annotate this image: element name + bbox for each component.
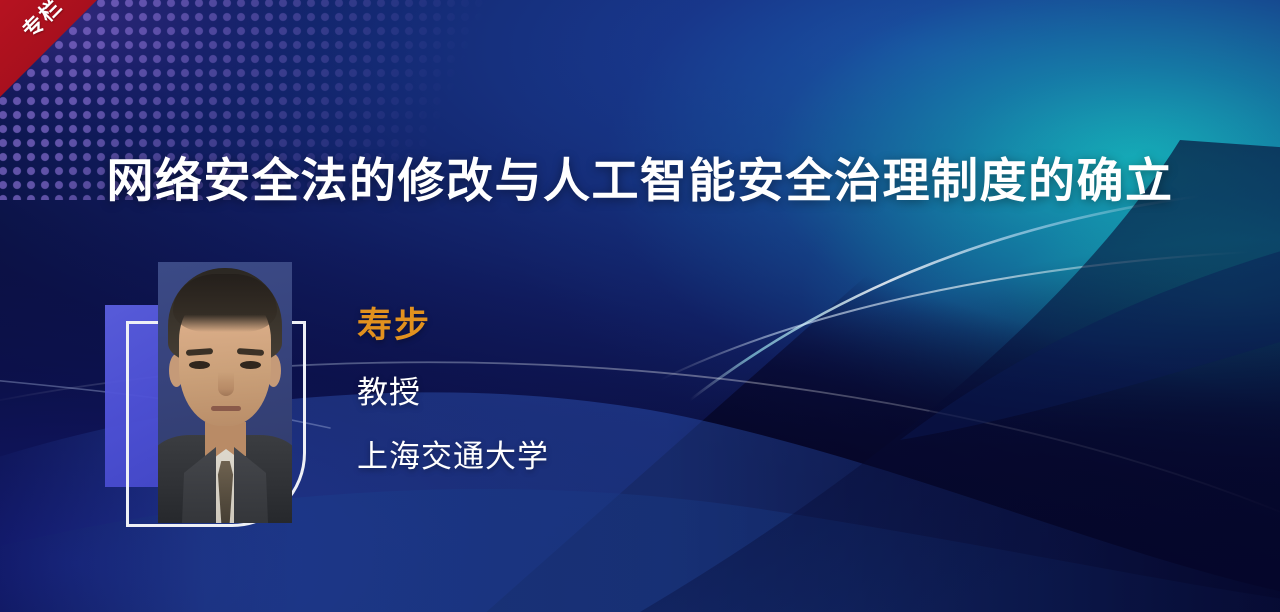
speaker-name: 寿步 — [357, 308, 549, 343]
speaker-portrait-block — [100, 255, 340, 540]
photo-eye-left — [189, 361, 210, 369]
slide-title: 网络安全法的修改与人工智能安全治理制度的确立 — [0, 153, 1280, 209]
photo-eye-right — [240, 361, 261, 369]
presentation-slide: 专栏 网络安全法的修改与人工智能安全治理制度的确立 — [0, 0, 1280, 612]
photo-nose — [218, 372, 234, 396]
photo-hair-fringe — [173, 274, 277, 332]
corner-ribbon-label: 专栏 — [9, 0, 76, 52]
speaker-organization: 上海交通大学 — [357, 441, 549, 472]
speaker-role: 教授 — [357, 377, 549, 408]
speaker-info: 寿步 教授 上海交通大学 — [357, 308, 549, 472]
photo-mouth — [211, 406, 241, 411]
speaker-photo — [158, 262, 292, 523]
corner-ribbon-badge: 专栏 — [0, 0, 97, 97]
